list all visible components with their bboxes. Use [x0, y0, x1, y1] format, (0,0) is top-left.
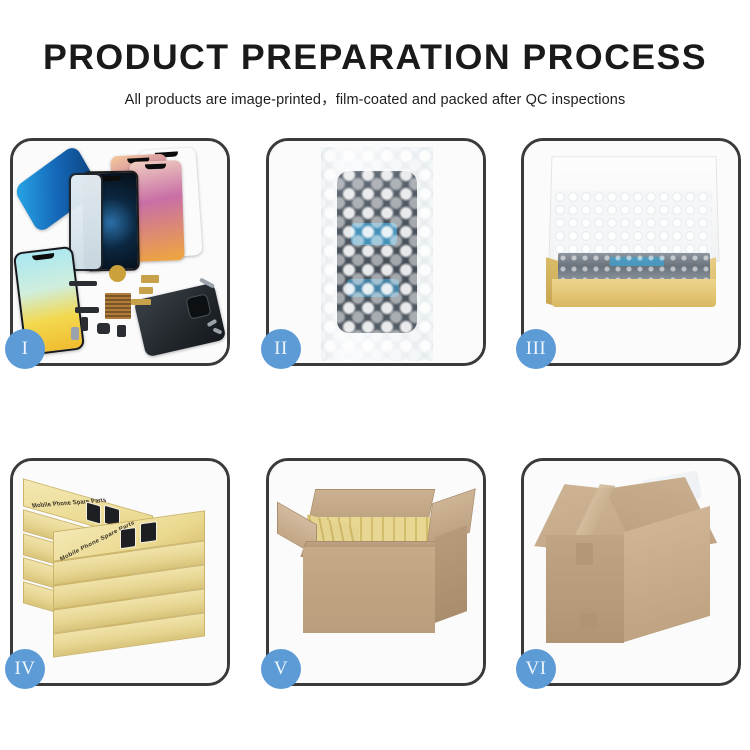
part-taptic-engine	[97, 323, 110, 334]
step-image-6	[524, 461, 738, 683]
step-badge-3: III	[516, 329, 556, 369]
step-image-2	[269, 141, 483, 363]
step-image-4: Mobile Phone Spare Parts Mobile Phone Sp…	[13, 461, 227, 683]
mailer-front-panel	[552, 279, 716, 307]
phone-notch-icon	[145, 164, 166, 170]
step-panel-2[interactable]: II	[266, 138, 486, 366]
step-image-5	[269, 461, 483, 683]
part-sim-tray	[71, 327, 79, 340]
part-vibrator	[117, 325, 126, 337]
step-badge-4: IV	[5, 649, 45, 689]
step-badge-1: I	[5, 329, 45, 369]
step-panel-5[interactable]: V	[266, 458, 486, 686]
mailer-box-scene	[524, 141, 738, 363]
bubble-texture-overlay	[321, 147, 433, 361]
open-carton-scene	[269, 461, 483, 683]
part-logic-board	[105, 293, 131, 319]
part-flex-cable-2	[139, 287, 153, 294]
page-header: PRODUCT PREPARATION PROCESS All products…	[0, 0, 750, 109]
part-earpiece-speaker	[69, 281, 97, 286]
step-panel-6[interactable]: VI	[521, 458, 741, 686]
page-subtitle: All products are image-printed，film-coat…	[0, 78, 750, 109]
step-badge-2: II	[261, 329, 301, 369]
phone-notch-icon	[32, 253, 55, 261]
bubble-wrap-sheet	[321, 147, 433, 361]
sealed-carton-scene	[524, 461, 738, 683]
part-flex-cable-1	[141, 275, 159, 283]
step-panel-1[interactable]: I	[10, 138, 230, 366]
part-wireless-coil	[109, 265, 126, 282]
step-panel-3[interactable]: III	[521, 138, 741, 366]
lid-screen-print-1	[86, 501, 101, 524]
stacked-boxes-scene: Mobile Phone Spare Parts Mobile Phone Sp…	[13, 461, 227, 683]
part-antenna-strip	[75, 307, 99, 313]
lid-screen-print-2	[140, 521, 157, 543]
phone-parts-scene	[13, 141, 227, 363]
step-image-3	[524, 141, 738, 363]
retail-box-stack: Mobile Phone Spare Parts Mobile Phone Sp…	[19, 477, 227, 673]
packing-tape-tab-upper	[576, 543, 593, 565]
carton-front-face	[303, 547, 435, 633]
step-image-1	[13, 141, 227, 363]
step-badge-5: V	[261, 649, 301, 689]
part-camera-module	[81, 317, 88, 331]
screen-protector-glass	[69, 173, 103, 271]
lid-screen-print-1	[120, 527, 136, 549]
bubble-wrap-scene	[269, 141, 483, 363]
step-panel-4[interactable]: Mobile Phone Spare Parts Mobile Phone Sp…	[10, 458, 230, 686]
step-badge-6: VI	[516, 649, 556, 689]
page-title: PRODUCT PREPARATION PROCESS	[0, 0, 750, 78]
packing-tape-tab-lower	[580, 613, 597, 629]
carton-side-face	[435, 525, 467, 623]
part-flex-cable-3	[131, 299, 151, 305]
